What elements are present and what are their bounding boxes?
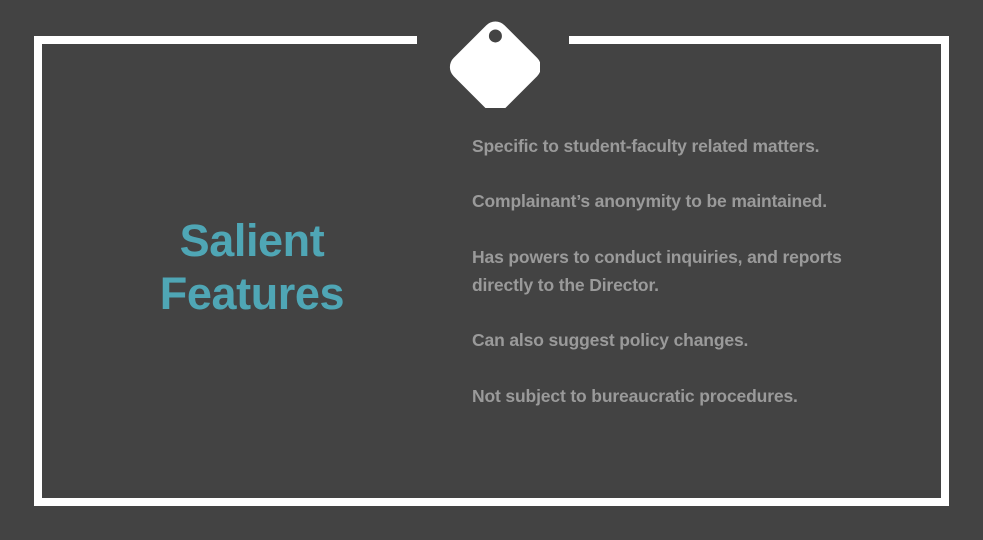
frame-border-top-right	[569, 36, 949, 44]
frame-border-left	[34, 36, 42, 506]
list-item: Can also suggest policy changes.	[472, 326, 892, 354]
frame-border-top-left	[34, 36, 417, 44]
list-item: Has powers to conduct inquiries, and rep…	[472, 243, 892, 300]
bullets-column: Specific to student-faculty related matt…	[462, 132, 941, 410]
slide-content: Salient Features Specific to student-fac…	[42, 44, 941, 498]
frame-border-right	[941, 36, 949, 506]
list-item: Specific to student-faculty related matt…	[472, 132, 892, 160]
title-column: Salient Features	[42, 215, 462, 326]
list-item: Not subject to bureaucratic procedures.	[472, 382, 892, 410]
list-item: Complainant’s anonymity to be maintained…	[472, 187, 892, 215]
bullet-list: Specific to student-faculty related matt…	[472, 132, 931, 410]
page-title: Salient Features	[160, 215, 344, 320]
frame-border-bottom	[34, 498, 949, 506]
slide-canvas: Salient Features Specific to student-fac…	[0, 0, 983, 540]
